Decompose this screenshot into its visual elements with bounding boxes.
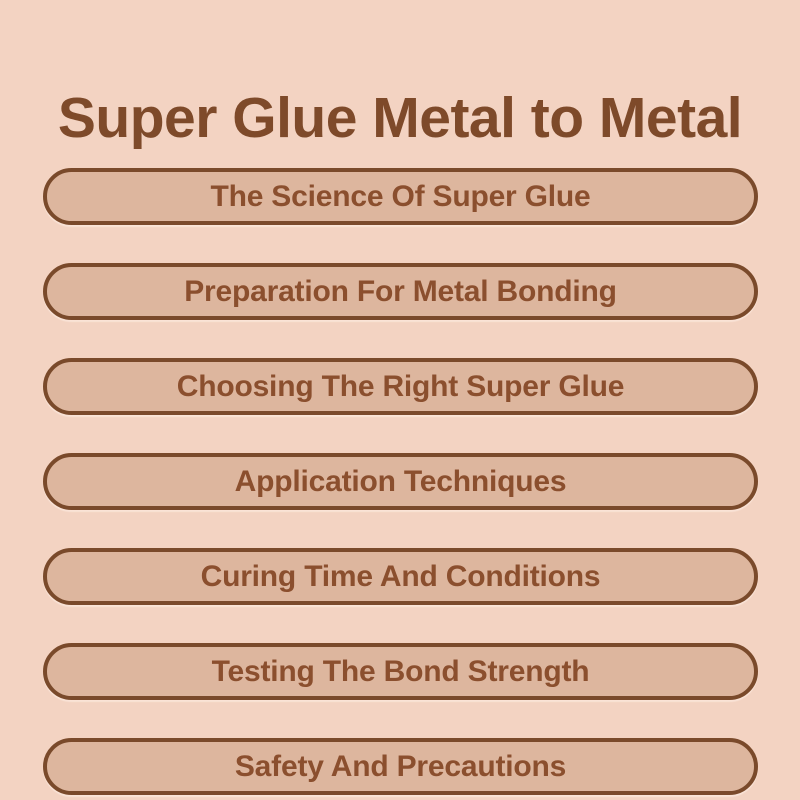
topic-list: The Science Of Super Glue Preparation Fo… [43,168,758,795]
topic-pill-6[interactable]: Testing The Bond Strength [43,643,758,700]
topic-label: Safety And Precautions [235,751,566,783]
infographic-page: Super Glue Metal to Metal The Science Of… [0,0,800,800]
topic-label: Application Techniques [235,466,567,498]
topic-label: The Science Of Super Glue [210,181,590,213]
topic-pill-2[interactable]: Preparation For Metal Bonding [43,263,758,320]
page-title: Super Glue Metal to Metal [0,84,800,152]
topic-label: Curing Time And Conditions [201,561,601,593]
topic-pill-7[interactable]: Safety And Precautions [43,738,758,795]
topic-pill-3[interactable]: Choosing The Right Super Glue [43,358,758,415]
topic-label: Choosing The Right Super Glue [177,371,625,403]
topic-label: Preparation For Metal Bonding [184,276,617,308]
topic-label: Testing The Bond Strength [212,656,590,688]
topic-pill-1[interactable]: The Science Of Super Glue [43,168,758,225]
topic-pill-5[interactable]: Curing Time And Conditions [43,548,758,605]
topic-pill-4[interactable]: Application Techniques [43,453,758,510]
